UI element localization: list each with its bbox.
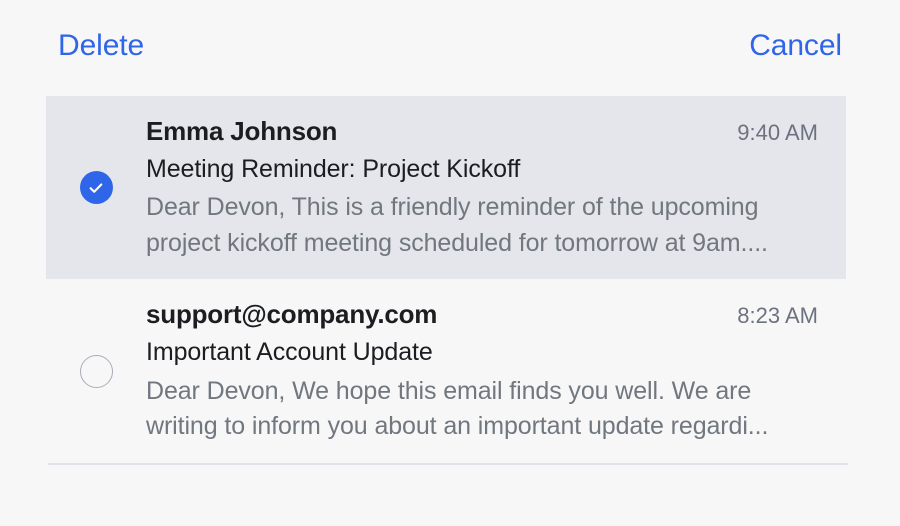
- email-content: Emma Johnson 9:40 AM Meeting Reminder: P…: [146, 114, 846, 261]
- email-list-item[interactable]: support@company.com 8:23 AM Important Ac…: [46, 279, 846, 462]
- delete-button[interactable]: Delete: [58, 31, 144, 61]
- email-sender: support@company.com: [146, 297, 437, 332]
- email-list-item[interactable]: Emma Johnson 9:40 AM Meeting Reminder: P…: [46, 96, 846, 279]
- circle-outline-icon[interactable]: [80, 355, 113, 388]
- email-timestamp: 9:40 AM: [737, 118, 818, 148]
- email-subject: Important Account Update: [146, 334, 818, 370]
- email-preview: Dear Devon, We hope this email finds you…: [146, 374, 818, 445]
- email-sender: Emma Johnson: [146, 114, 337, 149]
- cancel-button[interactable]: Cancel: [749, 31, 842, 61]
- email-header-line: support@company.com 8:23 AM: [146, 297, 818, 332]
- checkbox-column: [46, 297, 146, 444]
- checkbox-column: [46, 114, 146, 261]
- email-content: support@company.com 8:23 AM Important Ac…: [146, 297, 846, 444]
- email-preview: Dear Devon, This is a friendly reminder …: [146, 190, 818, 261]
- check-circle-filled-icon[interactable]: [80, 171, 113, 204]
- email-timestamp: 8:23 AM: [737, 301, 818, 331]
- email-header-line: Emma Johnson 9:40 AM: [146, 114, 818, 149]
- email-selection-screen: Delete Cancel Emma Johnson 9:40 AM Meeti…: [0, 0, 900, 526]
- email-list: Emma Johnson 9:40 AM Meeting Reminder: P…: [46, 96, 846, 465]
- list-divider: [48, 463, 848, 465]
- email-subject: Meeting Reminder: Project Kickoff: [146, 151, 818, 187]
- action-bar: Delete Cancel: [0, 0, 900, 92]
